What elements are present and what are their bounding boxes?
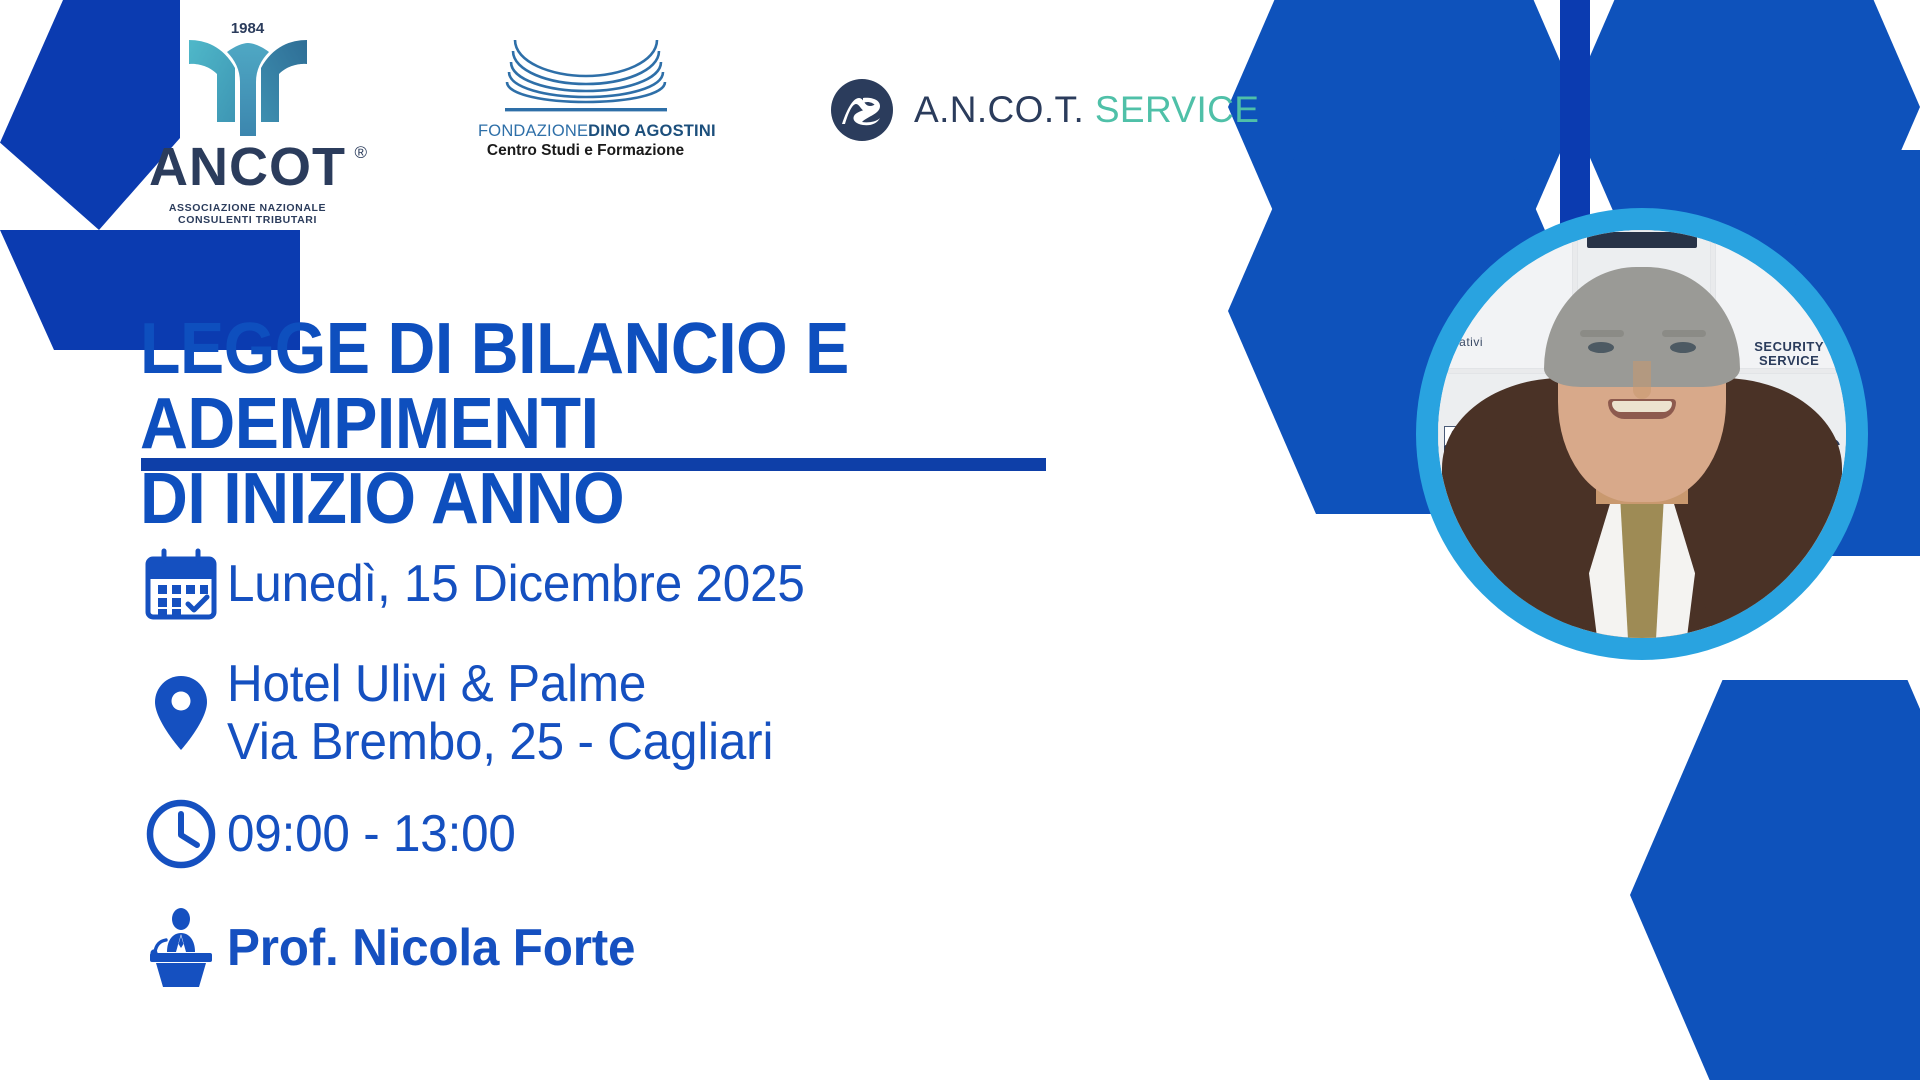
event-speaker-text: Prof. Nicola Forte xyxy=(227,919,635,977)
speaker-nose xyxy=(1633,361,1651,399)
event-speaker-row: Prof. Nicola Forte xyxy=(135,904,1235,992)
event-venue-row: Hotel Ulivi & Palme Via Brembo, 25 - Cag… xyxy=(135,654,1235,772)
speaker-portrait-photo: curativi ix SECURITY SERVICE SECU SER SE… xyxy=(1438,230,1846,638)
ancot-service-name-dark: A.N.CO.T. xyxy=(914,89,1084,130)
calendar-icon xyxy=(135,540,227,628)
event-title-line-1: LEGGE DI BILANCIO E ADEMPIMENTI xyxy=(140,309,849,464)
ancot-wordmark-text: ANCOT xyxy=(149,137,346,197)
ancot-service-badge-icon xyxy=(830,78,894,142)
logo-ancot-service[interactable]: A.N.CO.T. SERVICE xyxy=(830,78,1259,142)
event-details: Lunedì, 15 Dicembre 2025 Hotel Ulivi & P… xyxy=(135,540,1235,1020)
event-venue-text: Hotel Ulivi & Palme Via Brembo, 25 - Cag… xyxy=(227,655,773,771)
registered-trademark-icon: ® xyxy=(354,144,368,161)
event-date-text: Lunedì, 15 Dicembre 2025 xyxy=(227,555,805,613)
logo-ancot[interactable]: 1984 ANCOT ® xyxy=(130,18,365,226)
logo-row: 1984 ANCOT ® xyxy=(0,0,1230,210)
clock-icon xyxy=(135,790,227,878)
hexagon-shape-bottom-right xyxy=(1630,680,1920,1080)
fondazione-arcs-svg xyxy=(491,38,681,116)
event-title: LEGGE DI BILANCIO E ADEMPIMENTI DI INIZI… xyxy=(140,312,1244,537)
ancot-service-wordmark: A.N.CO.T. SERVICE xyxy=(914,89,1259,131)
fondazione-name-line: FONDAZIONEDINO AGOSTINI xyxy=(478,122,693,141)
fondazione-arcs-icon xyxy=(491,38,681,116)
calendar-icon-svg xyxy=(144,547,218,621)
speaker-portrait-ring: curativi ix SECURITY SERVICE SECU SER SE… xyxy=(1416,208,1868,660)
dino-agostini-word: DINO AGOSTINI xyxy=(588,122,716,140)
speaker-eyebrow-left xyxy=(1580,330,1624,337)
speaker-eyebrow-right xyxy=(1662,330,1706,337)
title-divider-rule xyxy=(141,458,1046,471)
location-pin-icon xyxy=(135,654,227,772)
speaker-podium-icon-svg xyxy=(142,908,220,988)
ancot-subtitle: ASSOCIAZIONE NAZIONALE CONSULENTI TRIBUT… xyxy=(130,202,365,226)
ancot-year-label: 1984 xyxy=(183,20,313,37)
speaker-figure xyxy=(1438,230,1846,638)
logo-fondazione-dino-agostini[interactable]: FONDAZIONEDINO AGOSTINI Centro Studi e F… xyxy=(478,38,693,160)
ancot-emblem-icon: 1984 xyxy=(183,18,313,138)
fondazione-tagline: Centro Studi e Formazione xyxy=(478,142,693,160)
fondazione-word: FONDAZIONE xyxy=(478,122,588,140)
ancot-service-name-teal: SERVICE xyxy=(1095,89,1260,130)
speaker-podium-icon xyxy=(135,904,227,992)
clock-icon-svg xyxy=(144,797,218,871)
speaker-teeth xyxy=(1612,401,1672,412)
event-time-text: 09:00 - 13:00 xyxy=(227,805,516,863)
ancot-wordmark: ANCOT ® xyxy=(149,140,346,194)
event-date-row: Lunedì, 15 Dicembre 2025 xyxy=(135,540,1235,628)
location-pin-icon-svg xyxy=(152,673,210,753)
event-time-row: 09:00 - 13:00 xyxy=(135,790,1235,878)
